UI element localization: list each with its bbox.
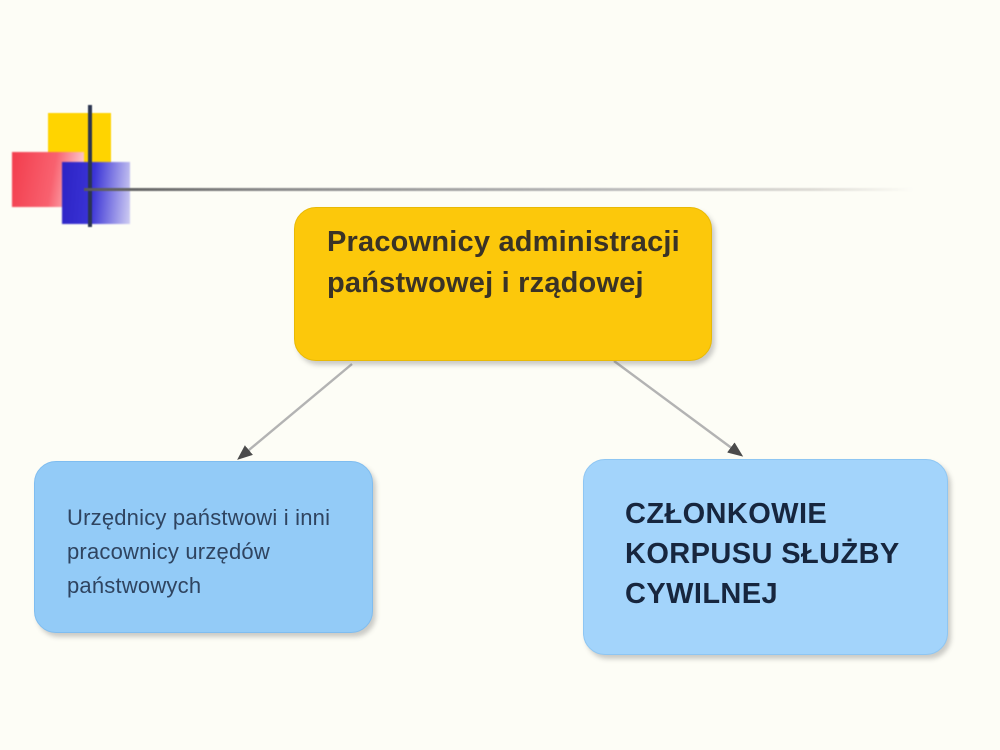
node-pracownicy-administracji[interactable]: [294, 207, 712, 361]
node-czlonkowie-korpusu-sluzby-cywilnej[interactable]: [583, 459, 948, 655]
connector-top-to-right: [614, 361, 737, 452]
node-urzednicy-panstwowi[interactable]: [34, 461, 373, 633]
connector-top-to-left: [243, 364, 352, 455]
slide-canvas: Pracownicy administracji państwowej i rz…: [0, 0, 1000, 750]
blue-square-icon: [62, 162, 130, 224]
horizontal-rule: [84, 188, 912, 191]
vertical-bar-icon: [88, 105, 92, 227]
decorative-logo-mark: [12, 100, 142, 230]
